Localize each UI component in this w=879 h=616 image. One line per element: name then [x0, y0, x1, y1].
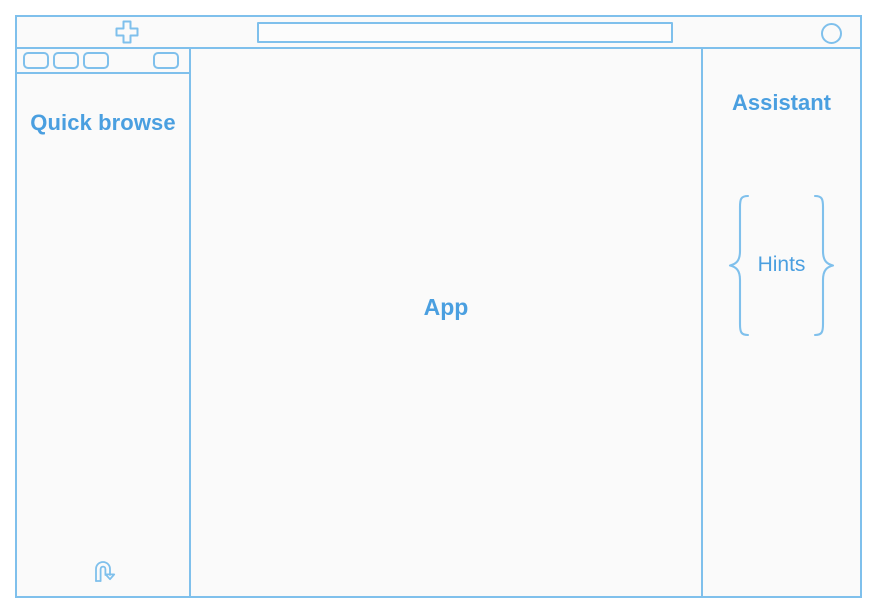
left-brace-icon — [726, 193, 752, 338]
sidebar-content: Quick browse — [17, 74, 189, 596]
hints-group: Hints — [711, 189, 852, 341]
toolbar-chip-2[interactable] — [53, 52, 79, 69]
assistant-title: Assistant — [703, 89, 860, 117]
app-label: App — [191, 293, 701, 321]
hints-label: Hints — [752, 253, 812, 277]
browser-top-bar — [17, 17, 860, 49]
app-content-panel[interactable]: App — [191, 49, 703, 596]
right-brace-icon — [811, 193, 837, 338]
toolbar-chip-1[interactable] — [23, 52, 49, 69]
toolbar-chip-3[interactable] — [83, 52, 109, 69]
sidebar-toolbar — [17, 49, 189, 74]
toolbar-chip-trailing[interactable] — [153, 52, 179, 69]
quick-browse-sidebar: Quick browse — [17, 49, 191, 596]
avatar-circle-icon — [821, 23, 842, 44]
sidebar-footer — [17, 556, 189, 586]
address-bar-input[interactable] — [257, 22, 673, 43]
assistant-panel: Assistant Hints — [703, 49, 860, 596]
account-button[interactable] — [818, 20, 844, 46]
plus-icon — [113, 18, 141, 46]
new-tab-button[interactable] — [97, 17, 157, 47]
sidebar-title: Quick browse — [17, 108, 189, 138]
window-body: Quick browse — [17, 49, 860, 596]
wireframe-root: Quick browse — [0, 0, 879, 616]
u-turn-arrow-icon[interactable] — [88, 556, 118, 586]
browser-window-frame: Quick browse — [15, 15, 862, 598]
